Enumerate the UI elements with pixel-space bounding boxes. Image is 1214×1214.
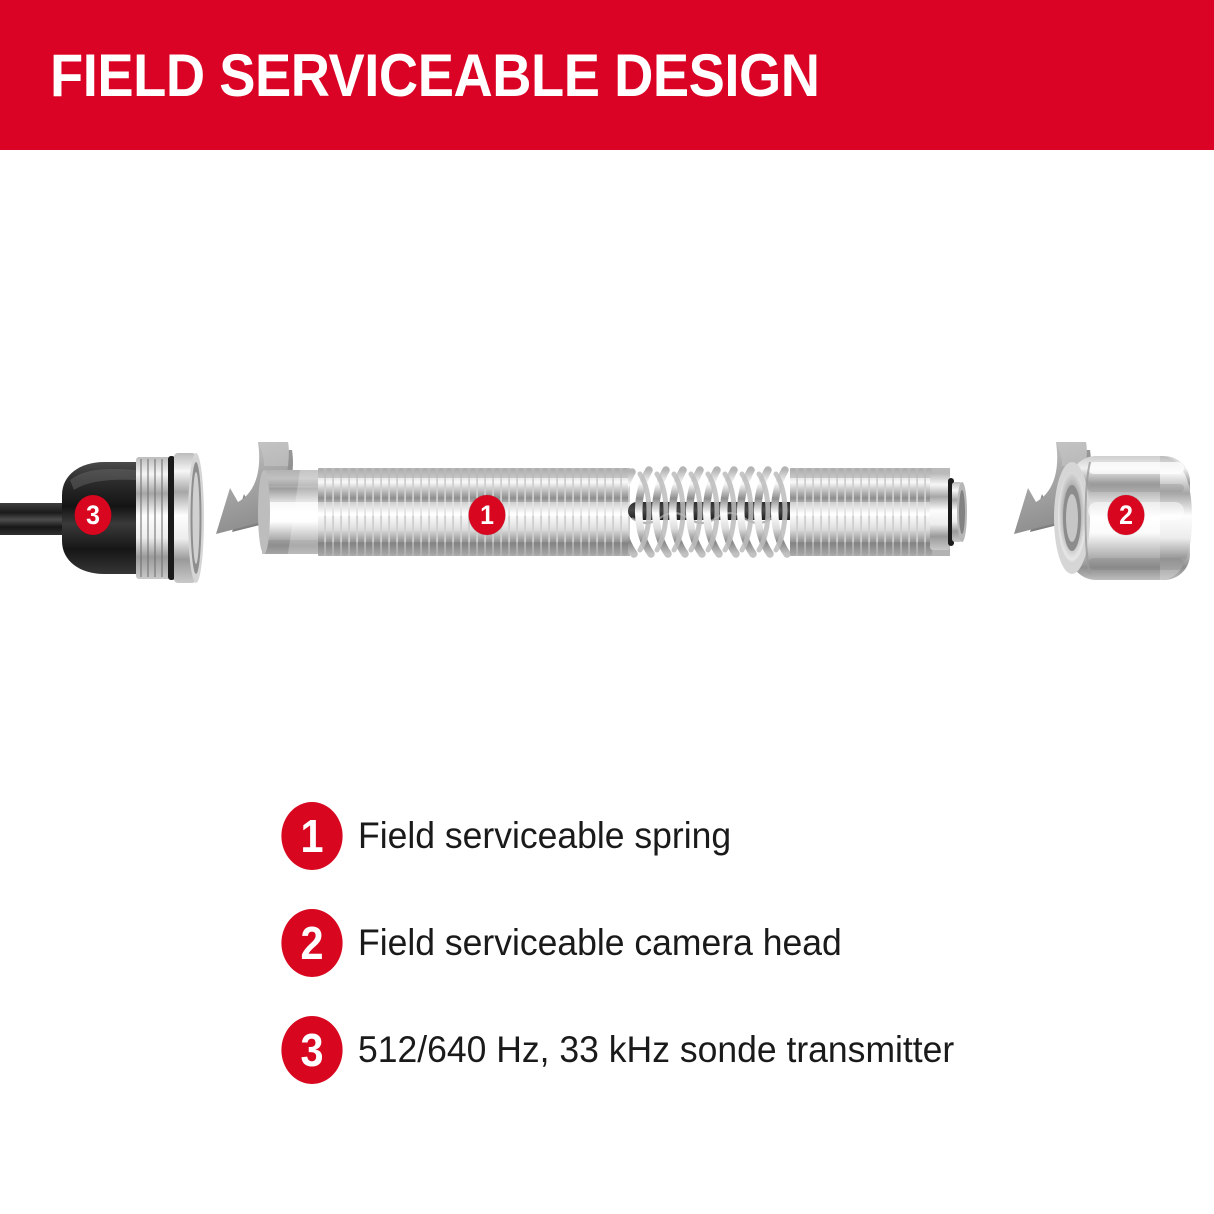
legend-list: 1 Field serviceable spring 2 Field servi…	[278, 800, 1178, 1085]
spring-ferrule-group	[258, 470, 320, 554]
legend-label-1: Field serviceable spring	[358, 815, 731, 857]
legend-item-2: 2 Field serviceable camera head	[278, 907, 1178, 978]
page-title: FIELD SERVICEABLE DESIGN	[50, 46, 820, 106]
legend-item-3: 3 512/640 Hz, 33 kHz sonde transmitter	[278, 1014, 1178, 1085]
legend-item-1: 1 Field serviceable spring	[278, 800, 1178, 871]
callout-badge-2: 2	[1108, 495, 1145, 535]
legend-badge-3: 3	[281, 1016, 342, 1084]
legend-label-2: Field serviceable camera head	[358, 922, 842, 964]
coil-spring-open-middle	[622, 470, 798, 554]
header-banner: FIELD SERVICEABLE DESIGN	[0, 0, 1214, 150]
legend-badge-1: 1	[281, 802, 342, 870]
spring-end-connector	[930, 474, 967, 550]
legend-badge-2: 2	[281, 909, 342, 977]
sonde-thread-collar	[136, 453, 204, 583]
callout-badge-3: 3	[75, 495, 112, 535]
product-illustration: 1 2 3	[0, 150, 1214, 770]
legend-label-3: 512/640 Hz, 33 kHz sonde transmitter	[358, 1029, 954, 1071]
coil-spring-tight-right	[790, 468, 950, 556]
product-diagram-svg	[0, 150, 1214, 770]
callout-badge-1: 1	[469, 495, 506, 535]
